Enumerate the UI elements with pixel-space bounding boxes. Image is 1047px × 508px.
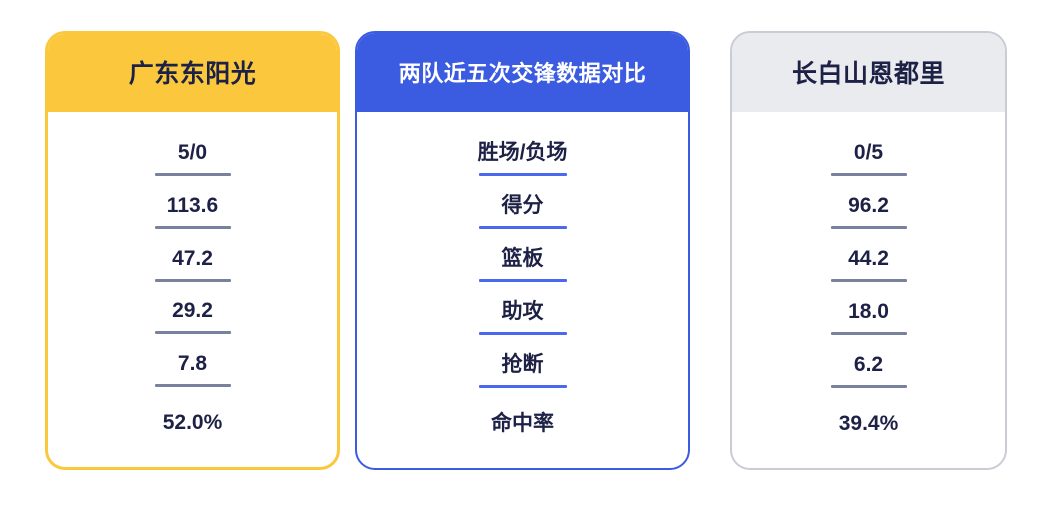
stat-row: 6.2 [732,344,1005,397]
team-left-stats: 5/0 113.6 47.2 29.2 7.8 52.0% [48,112,337,467]
stat-row: 命中率 [357,397,688,450]
stat-value-assists: 18.0 [848,300,889,323]
row-divider [831,173,907,176]
stat-value-record: 0/5 [854,141,883,164]
row-divider [479,226,567,229]
row-divider [831,279,907,282]
row-divider [479,173,567,176]
stat-row: 52.0% [48,396,337,449]
stat-label-steals: 抢断 [502,353,544,376]
stat-value-steals: 7.8 [178,352,207,375]
stat-row: 44.2 [732,238,1005,291]
comparison-title: 两队近五次交锋数据对比 [355,31,690,112]
stat-label-points: 得分 [502,194,544,217]
stat-value-fg-percent: 39.4% [839,412,899,435]
stat-row: 39.4% [732,397,1005,450]
stat-row: 胜场/负场 [357,132,688,185]
stat-value-assists: 29.2 [172,299,213,322]
stat-row: 96.2 [732,185,1005,238]
row-divider [831,226,907,229]
stat-value-points: 96.2 [848,194,889,217]
stat-label-record: 胜场/负场 [478,141,568,164]
stat-label-rebounds: 篮板 [502,247,544,270]
row-divider [155,279,231,282]
row-divider [155,331,231,334]
row-divider [155,384,231,387]
row-divider [155,226,231,229]
stat-label-fg-percent: 命中率 [491,412,554,435]
stat-row: 抢断 [357,344,688,397]
stat-row: 0/5 [732,132,1005,185]
comparison-labels: 胜场/负场 得分 篮板 助攻 抢断 命中率 [357,112,688,468]
stat-row: 得分 [357,185,688,238]
row-divider [155,173,231,176]
row-divider [831,385,907,388]
row-divider [831,332,907,335]
row-divider [479,385,567,388]
row-divider [479,332,567,335]
stat-row: 113.6 [48,185,337,238]
row-divider [479,279,567,282]
team-card-right: 长白山恩都里 0/5 96.2 44.2 18.0 6.2 [730,31,1007,470]
stat-value-points: 113.6 [167,194,218,217]
stat-row: 29.2 [48,290,337,343]
stat-value-fg-percent: 52.0% [163,411,223,434]
team-right-stats: 0/5 96.2 44.2 18.0 6.2 39.4% [732,112,1005,468]
stat-value-rebounds: 47.2 [172,247,213,270]
team-right-title: 长白山恩都里 [730,31,1007,112]
stat-row: 47.2 [48,238,337,291]
stat-label-assists: 助攻 [502,300,544,323]
stat-value-steals: 6.2 [854,353,883,376]
team-card-left: 广东东阳光 5/0 113.6 47.2 29.2 7.8 [45,31,340,470]
stat-row: 7.8 [48,343,337,396]
stat-row: 助攻 [357,291,688,344]
comparison-board: 广东东阳光 5/0 113.6 47.2 29.2 7.8 [0,0,1047,508]
stat-row: 篮板 [357,238,688,291]
stat-row: 5/0 [48,132,337,185]
stat-row: 18.0 [732,291,1005,344]
comparison-card-middle: 两队近五次交锋数据对比 胜场/负场 得分 篮板 助攻 抢断 [355,31,690,470]
stat-value-record: 5/0 [178,141,207,164]
stat-value-rebounds: 44.2 [848,247,889,270]
team-left-title: 广东东阳光 [45,31,340,112]
